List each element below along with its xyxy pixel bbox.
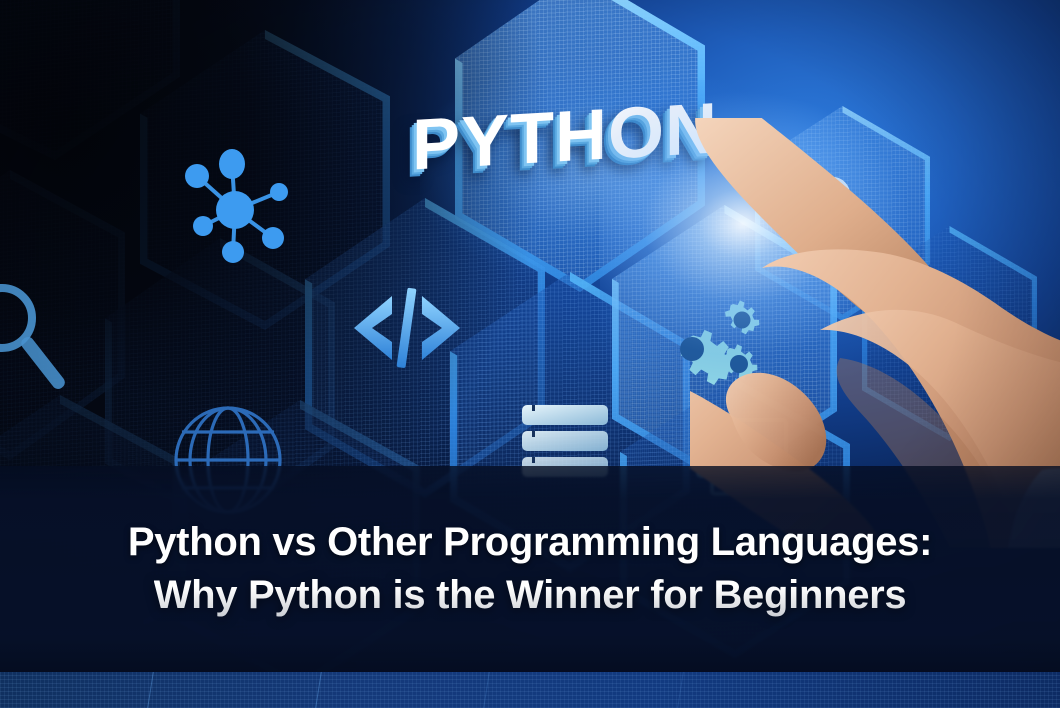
magnifier-icon [0,282,78,402]
banner-image: PYTHON [0,0,1060,708]
bottom-strip-texture [0,672,1060,708]
title-line-1: Python vs Other Programming Languages: [128,520,932,565]
title-line-2: Why Python is the Winner for Beginners [154,573,907,618]
code-brackets-icon [352,288,462,368]
bottom-strip [0,672,1060,708]
title-block: Python vs Other Programming Languages: W… [0,466,1060,672]
python-wordmark: PYTHON [412,87,718,186]
network-nodes-icon [175,148,295,268]
